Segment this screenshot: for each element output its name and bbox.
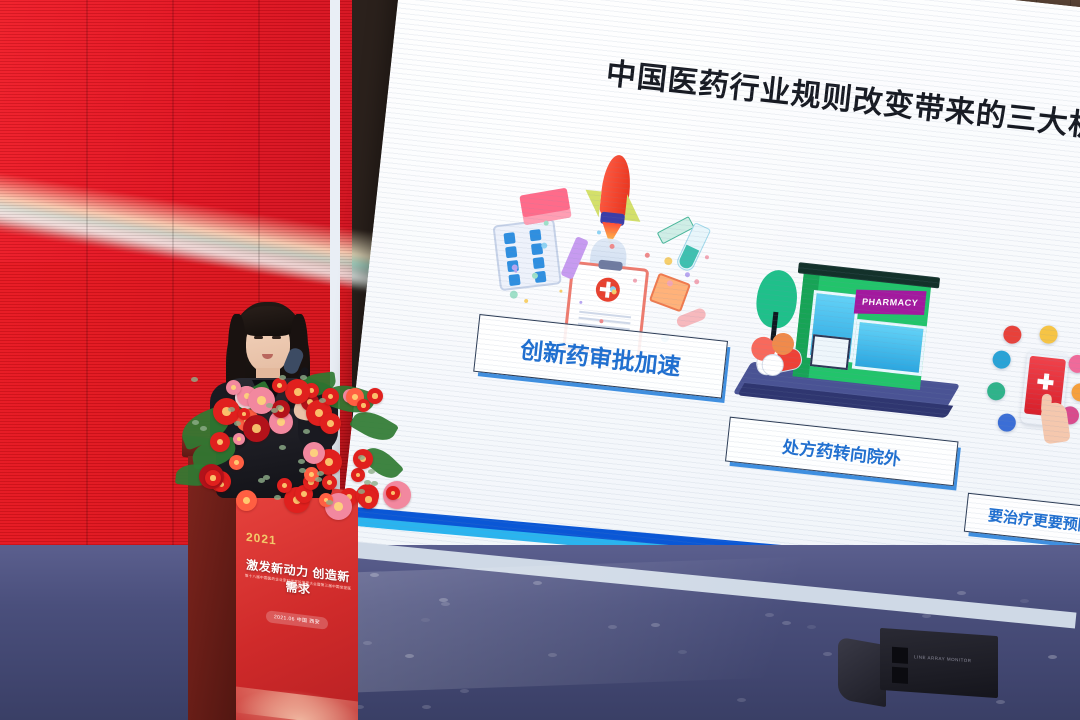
conference-stage-photo: 中国医药行业规则改变带来的三大机遇 [0, 0, 1080, 720]
rocket-fin-right-icon [624, 194, 643, 222]
rocket-fin-left-icon [583, 190, 602, 218]
slide-column-2: PHARMACY 处方药转向院外 [725, 243, 977, 487]
podium-wave-graphic [236, 682, 358, 720]
medical-cross-icon [1037, 373, 1055, 391]
pharmacy-sign: PHARMACY [854, 290, 927, 315]
stage-monitor-speaker: LINE ARRAY MONITOR [880, 628, 998, 698]
medicine-bottle-icon [649, 272, 691, 312]
slide-column-1: 创新药审批加速 [473, 140, 747, 399]
monitor-grill [892, 647, 908, 664]
rocket-illustration [479, 140, 746, 341]
medical-cross-icon [595, 276, 621, 302]
pharmacy-illustration: PHARMACY [730, 243, 978, 442]
clipboard-clip-icon [598, 260, 623, 272]
slide-column-3: 要治疗更要预防 [964, 319, 1080, 548]
pharmacy-window-right [852, 319, 927, 376]
eye-right [272, 336, 281, 339]
pill-blister-pack-icon [492, 218, 561, 291]
stage-monitor-side [838, 637, 886, 707]
flower-arrangement [176, 368, 406, 528]
hair-fringe [240, 306, 296, 336]
podium-year: 2021 [246, 530, 277, 548]
eye-left [254, 336, 263, 339]
monitor-label: LINE ARRAY MONITOR [914, 654, 972, 663]
phone-health-illustration [968, 319, 1080, 509]
slide-columns: 创新药审批加速 PHARMACY [409, 124, 1080, 528]
monitor-grill-2 [892, 667, 908, 684]
health-icon-bubbles [987, 319, 1080, 335]
podium-date-badge: 2021.06 中国 西安 [266, 610, 328, 630]
pharmacy-door-icon [810, 334, 851, 370]
